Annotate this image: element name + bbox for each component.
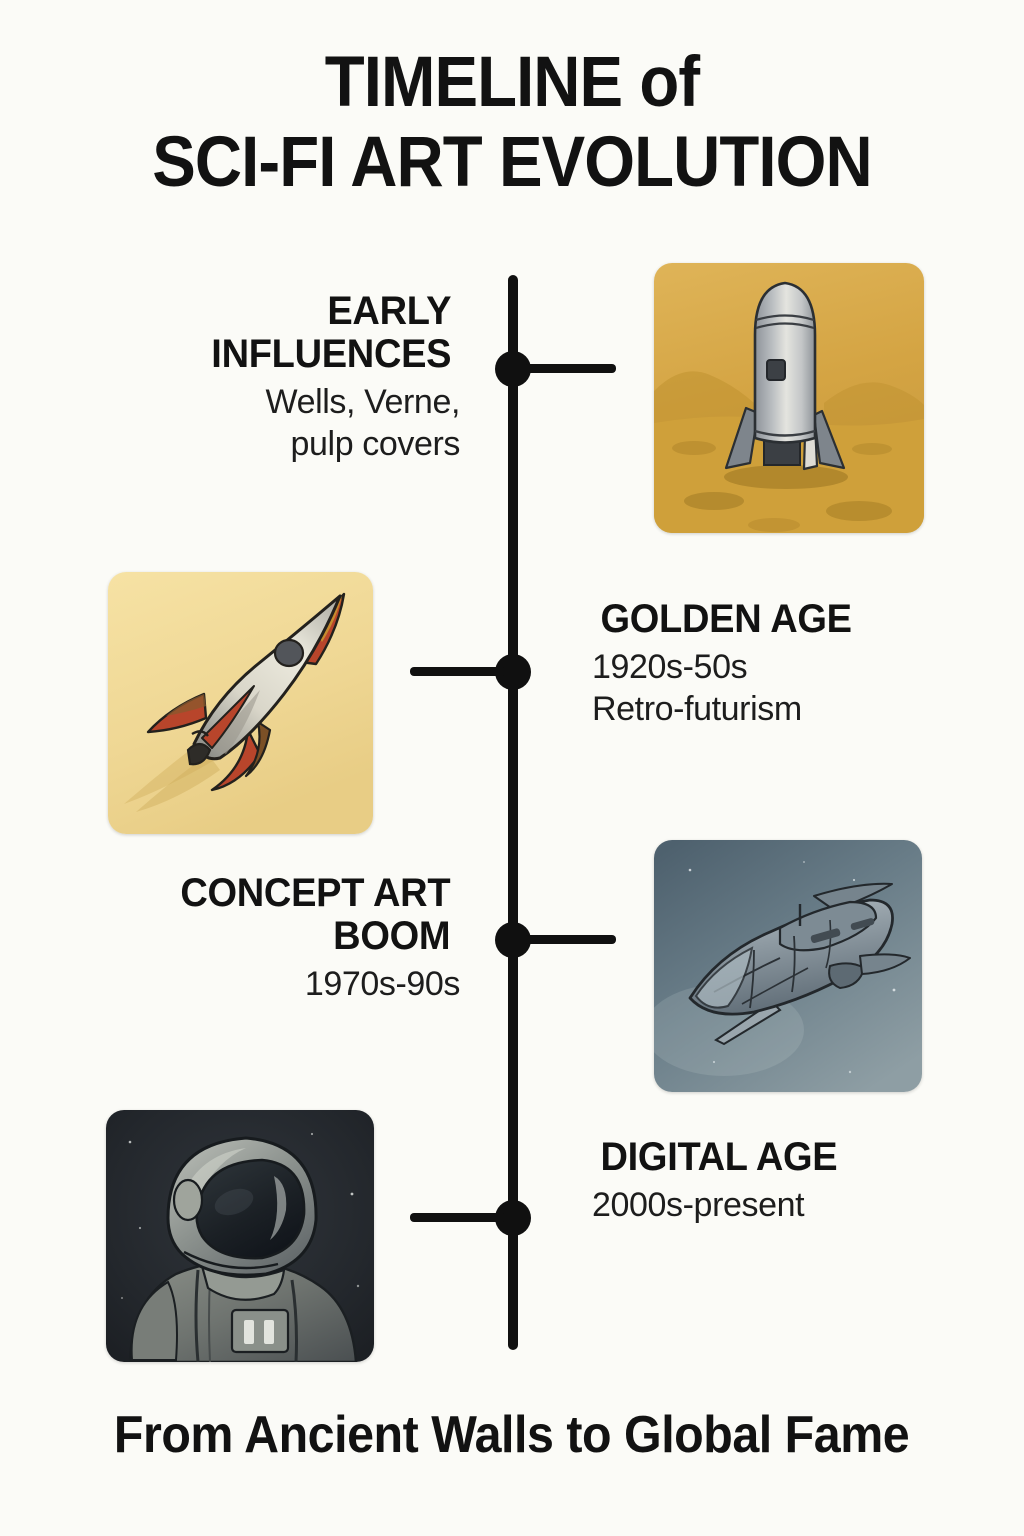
timeline-poster: TIMELINE of SCI-FI ART EVOLUTION EARLY I… xyxy=(0,0,1024,1536)
entry-subtitle-line-2: pulp covers xyxy=(291,425,460,463)
timeline-image-golden-age[interactable] xyxy=(108,572,373,834)
title-line-2: SCI-FI ART EVOLUTION xyxy=(41,128,983,198)
timeline-entry-early-influences-text: EARLY INFLUENCES Wells, Verne, pulp cove… xyxy=(110,290,460,465)
entry-heading-line-1: CONCEPT ART xyxy=(180,871,450,915)
entry-subtitle-golden-age: 1920s-50s Retro-futurism xyxy=(592,647,932,730)
entry-subtitle-concept-art-boom: 1970s-90s xyxy=(70,964,460,1005)
entry-heading-concept-art-boom: CONCEPT ART BOOM xyxy=(80,872,451,958)
entry-heading-line-1: GOLDEN AGE xyxy=(601,597,852,641)
timeline-connector-digital-age xyxy=(410,1213,506,1222)
timeline-image-concept-art-boom[interactable] xyxy=(654,840,922,1092)
timeline-entry-golden-age-text: GOLDEN AGE 1920s-50s Retro-futurism xyxy=(592,598,932,730)
entry-heading-line-2: BOOM xyxy=(333,914,450,958)
timeline-image-digital-age[interactable] xyxy=(106,1110,374,1362)
timeline-entry-digital-age-text: DIGITAL AGE 2000s-present xyxy=(592,1136,932,1227)
timeline-connector-early-influences xyxy=(524,364,616,373)
timeline-connector-concept-art-boom xyxy=(524,935,616,944)
entry-heading-line-1: DIGITAL AGE xyxy=(601,1135,838,1179)
entry-subtitle-line-1: Wells, Verne, xyxy=(266,383,460,421)
entry-heading-line-2: INFLUENCES xyxy=(211,332,451,376)
entry-heading-digital-age: DIGITAL AGE xyxy=(601,1136,924,1179)
entry-heading-early-influences: EARLY INFLUENCES xyxy=(119,290,452,376)
page-title: TIMELINE of SCI-FI ART EVOLUTION xyxy=(0,48,1024,197)
entry-subtitle-line-1: 1920s-50s xyxy=(592,648,747,686)
timeline-entry-concept-art-boom-text: CONCEPT ART BOOM 1970s-90s xyxy=(70,872,460,1006)
timeline-connector-golden-age xyxy=(410,667,506,676)
entry-subtitle-line-1: 1970s-90s xyxy=(305,965,460,1003)
entry-heading-golden-age: GOLDEN AGE xyxy=(601,598,924,641)
entry-subtitle-line-1: 2000s-present xyxy=(592,1186,804,1224)
timeline-axis xyxy=(508,275,518,1350)
entry-subtitle-digital-age: 2000s-present xyxy=(592,1185,932,1226)
entry-subtitle-early-influences: Wells, Verne, pulp covers xyxy=(110,382,460,465)
entry-heading-line-1: EARLY xyxy=(327,289,451,333)
footer-text: From Ancient Walls to Global Fame xyxy=(114,1405,909,1465)
title-line-1: TIMELINE of xyxy=(41,48,983,118)
entry-subtitle-line-2: Retro-futurism xyxy=(592,690,802,728)
timeline-image-early-influences[interactable] xyxy=(654,263,924,533)
footer: From Ancient Walls to Global Fame xyxy=(0,1405,1024,1465)
